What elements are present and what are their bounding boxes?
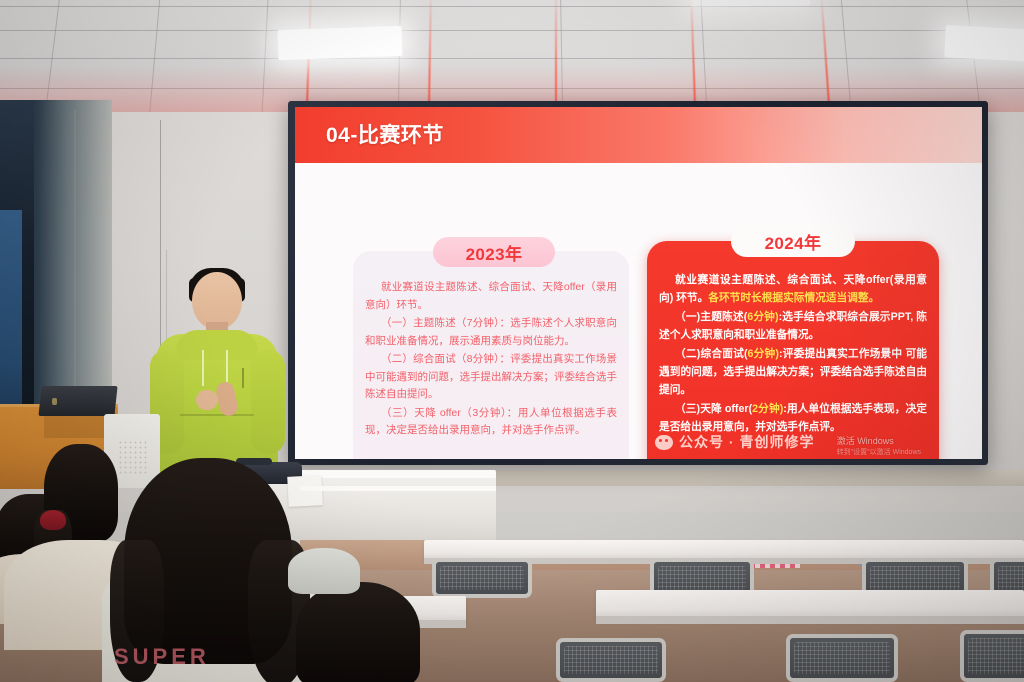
student-desk bbox=[424, 540, 1024, 560]
paragraph: （三）天降 offer（3分钟）：用人单位根据选手表现，决定是否给出录用意向，并… bbox=[365, 405, 617, 440]
paragraph: （二)综合面试(6分钟):评委提出真实工作场景中 可能遇到的问题，选手提出解决方… bbox=[659, 345, 927, 399]
slide-title: 04-比赛环节 bbox=[326, 119, 444, 149]
paragraph: （一）主题陈述（7分钟）：选手陈述个人求职意向和职业准备情况，展示通用素质与岗位… bbox=[365, 315, 617, 350]
student-chair bbox=[432, 558, 532, 598]
badge-2023-label: 2023年 bbox=[466, 240, 523, 265]
presenter-hand-left bbox=[196, 390, 218, 410]
laptop[interactable] bbox=[38, 386, 117, 416]
highlight: 2分钟) bbox=[752, 403, 783, 415]
card-2024: 2024年 就业赛道设主题陈述、综合面试、天降offer(录用意向) 环节。各环… bbox=[647, 241, 939, 459]
ceiling-light-panel bbox=[944, 25, 1024, 63]
student-chair bbox=[786, 634, 898, 682]
highlight: 6分钟) bbox=[748, 348, 779, 360]
paragraph: （二）综合面试（8分钟）：评委提出真实工作场景中可能遇到的问题，选手提出解决方案… bbox=[365, 351, 617, 404]
audience-member bbox=[278, 548, 368, 618]
wechat-icon bbox=[655, 435, 673, 450]
ceiling-light-panel bbox=[278, 26, 403, 60]
badge-2024-label: 2024年 bbox=[765, 229, 822, 254]
badge-2024: 2024年 bbox=[731, 226, 855, 257]
footer-label: 公众号 · 青创师修学 bbox=[679, 432, 814, 452]
card-2023-text: 就业赛道设主题陈述、综合面试、天降offer（录用意向）环节。 （一）主题陈述（… bbox=[365, 279, 617, 441]
presentation-screen[interactable]: 04-比赛环节 2023年 就业赛道设主题陈述、综合面试、天降offer（录用意… bbox=[295, 107, 982, 459]
card-2024-text: 就业赛道设主题陈述、综合面试、天降offer(录用意向) 环节。各环节时长根据实… bbox=[659, 271, 927, 437]
card-2023: 2023年 就业赛道设主题陈述、综合面试、天降offer（录用意向）环节。 （一… bbox=[353, 251, 629, 459]
slide-body: 2023年 就业赛道设主题陈述、综合面试、天降offer（录用意向）环节。 （一… bbox=[295, 163, 982, 459]
paragraph: （一)主题陈述(6分钟):选手结合求职综合展示PPT, 陈述个人求职意向和职业准… bbox=[659, 308, 927, 344]
student-chair bbox=[960, 630, 1024, 682]
badge-2023: 2023年 bbox=[433, 237, 555, 267]
jacket-graphic-text: SUPER bbox=[114, 644, 210, 670]
presenter bbox=[150, 272, 285, 488]
highlight: 6分钟) bbox=[747, 311, 778, 323]
hair-scrunchie bbox=[40, 510, 66, 530]
hoodie-graphic bbox=[232, 368, 254, 390]
slide-footer: 公众号 · 青创师修学 bbox=[647, 429, 947, 455]
screenshot-root: 04-比赛环节 2023年 就业赛道设主题陈述、综合面试、天降offer（录用意… bbox=[0, 0, 1024, 682]
highlight: 各环节时长根据实际情况适当调整。 bbox=[708, 292, 879, 304]
student-chair bbox=[556, 638, 666, 682]
paragraph: 就业赛道设主题陈述、综合面试、天降offer（录用意向）环节。 bbox=[365, 279, 617, 314]
paragraph: 就业赛道设主题陈述、综合面试、天降offer(录用意向) 环节。各环节时长根据实… bbox=[659, 271, 927, 307]
